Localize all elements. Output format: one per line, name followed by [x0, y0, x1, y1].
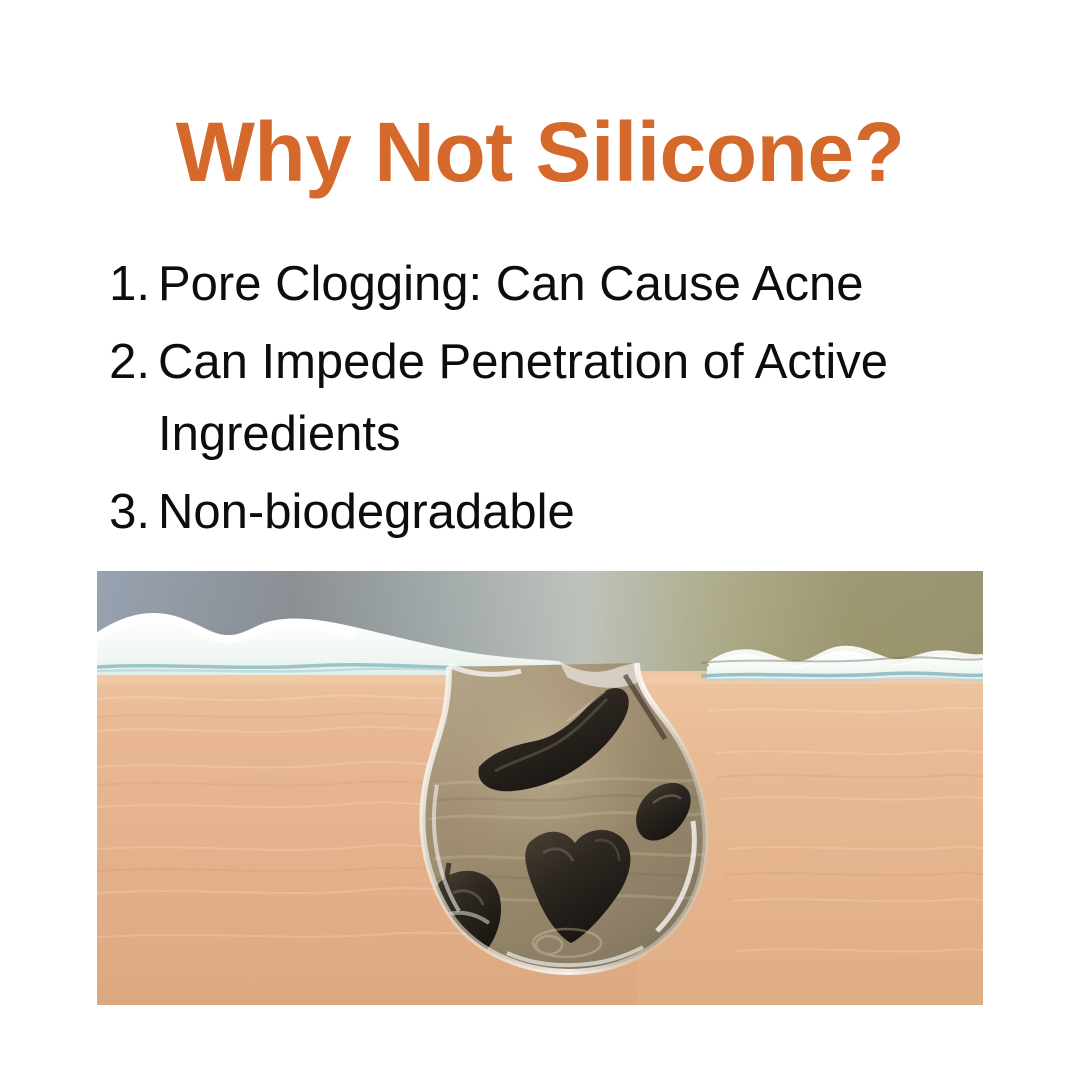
clogged-pore-illustration [97, 571, 983, 1005]
list-item-text: Can Impede Penetration of Active Ingredi… [158, 326, 996, 470]
list-item: 2. Can Impede Penetration of Active Ingr… [96, 326, 996, 470]
page-title: Why Not Silicone? [0, 104, 1080, 200]
list-item-number: 1. [96, 248, 158, 320]
poster-root: Why Not Silicone? 1. Pore Clogging: Can … [0, 0, 1080, 1080]
list-item: 1. Pore Clogging: Can Cause Acne [96, 248, 996, 320]
list-item: 3. Non-biodegradable [96, 476, 996, 548]
list-item-text: Non-biodegradable [158, 476, 996, 548]
list-item-text: Pore Clogging: Can Cause Acne [158, 248, 996, 320]
list-item-number: 3. [96, 476, 158, 548]
clogged-pore-diagram [97, 571, 983, 1005]
reasons-list: 1. Pore Clogging: Can Cause Acne 2. Can … [96, 248, 996, 554]
list-item-number: 2. [96, 326, 158, 398]
